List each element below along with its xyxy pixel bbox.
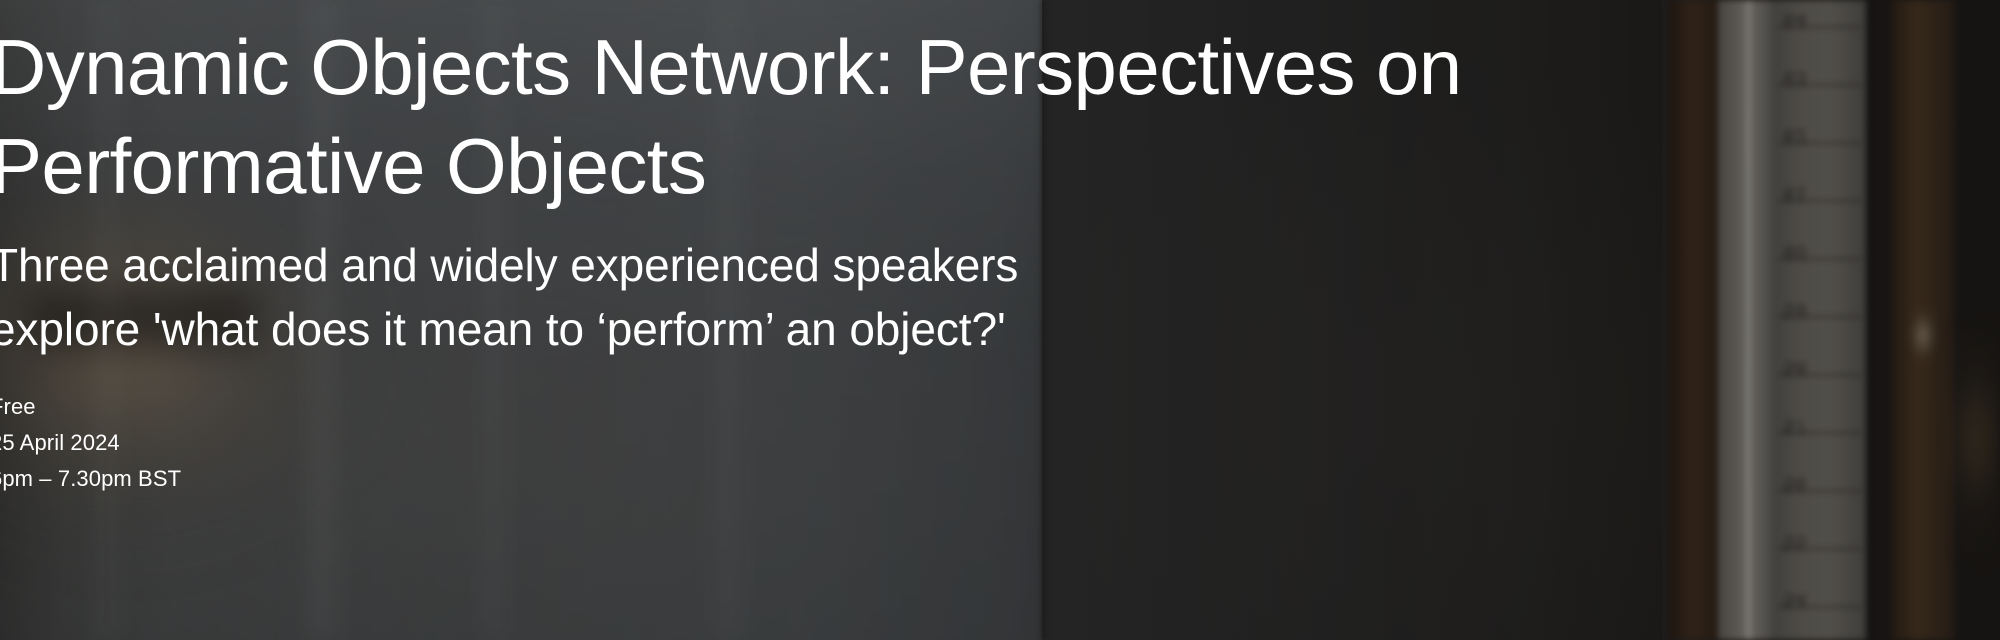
event-time: 6pm – 7.30pm BST	[0, 464, 690, 494]
instrument-scale-number: 55	[1784, 530, 1807, 552]
instrument-scale-number: 58	[1784, 356, 1807, 378]
instrument-scale-number: 63	[1784, 66, 1807, 88]
instrument-scale-number: 62	[1784, 124, 1807, 146]
page-subtitle: Three acclaimed and widely experienced s…	[0, 233, 1690, 361]
instrument-scale-number: 54	[1784, 588, 1807, 610]
hero-content: Dynamic Objects Network: Perspectives on…	[0, 0, 1690, 640]
event-date: 25 April 2024	[0, 428, 690, 458]
page-subtitle-line-1: Three acclaimed and widely experienced s…	[0, 233, 1690, 297]
instrument-scale-number: 61	[1784, 182, 1807, 204]
thermometer-instrument-icon: 64 63 62 61 60 59 58 57 56 55 54	[1660, 0, 2000, 640]
instrument-scale-number: 56	[1784, 472, 1807, 494]
instrument-scale-number: 57	[1784, 414, 1807, 436]
instrument-frame-edge	[1866, 0, 1876, 640]
event-meta: Free 25 April 2024 6pm – 7.30pm BST	[0, 392, 690, 494]
instrument-scale-number: 64	[1784, 8, 1807, 30]
page-title: Dynamic Objects Network: Perspectives on…	[0, 18, 1690, 216]
event-hero-banner: 64 63 62 61 60 59 58 57 56 55 54	[0, 0, 2000, 640]
page-title-line-1: Dynamic Objects Network: Perspectives on	[0, 18, 1690, 117]
instrument-capillary-line	[1746, 0, 1751, 640]
instrument-light-glint	[1910, 300, 1936, 370]
page-subtitle-line-2: explore 'what does it mean to ‘perform’ …	[0, 297, 1690, 361]
instrument-scale-number: 60	[1784, 240, 1807, 262]
event-price: Free	[0, 392, 690, 422]
page-title-line-2: Performative Objects	[0, 117, 1690, 216]
background-amber-glow	[1952, 330, 2000, 570]
instrument-scale-number: 59	[1784, 298, 1807, 320]
